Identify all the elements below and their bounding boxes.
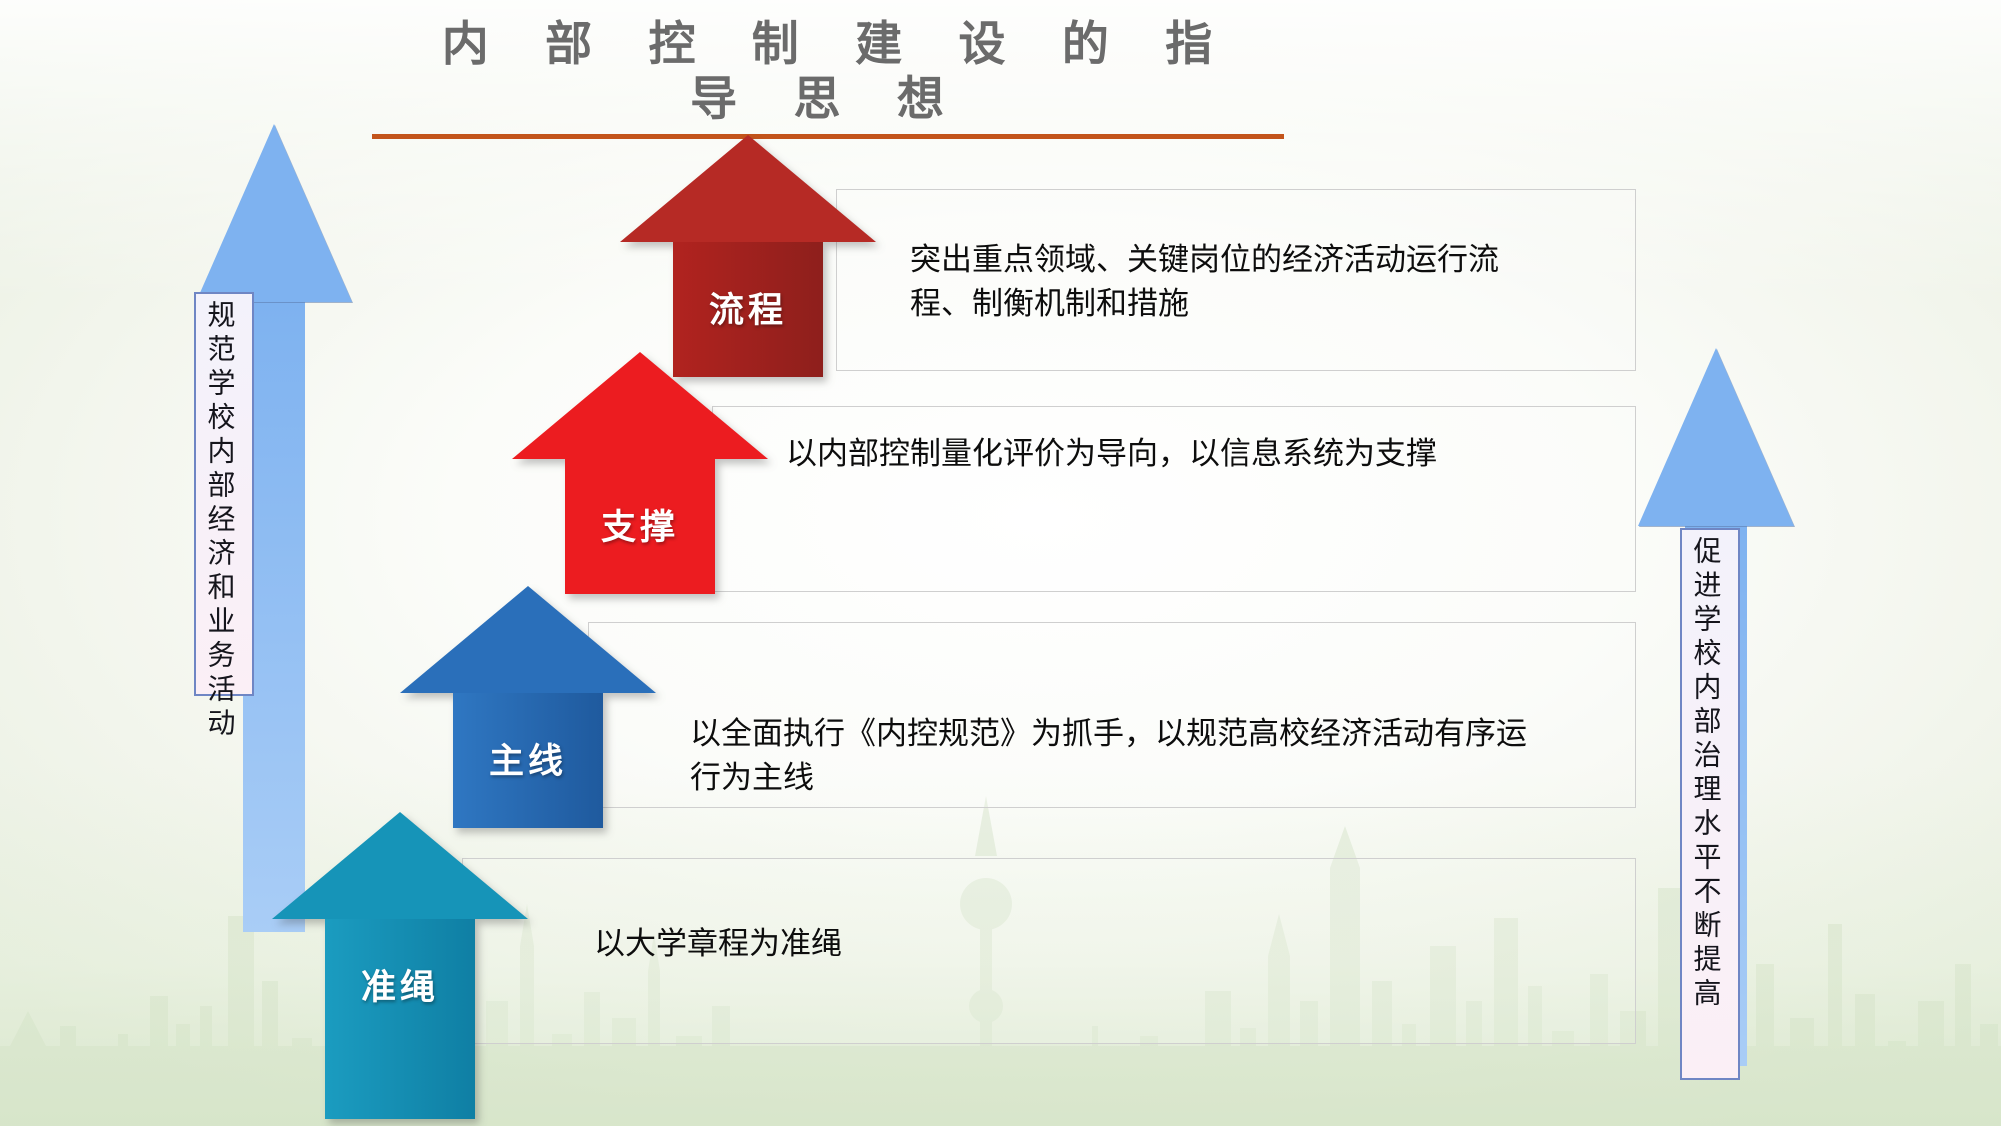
step-description-3: 以全面执行《内控规范》为抓手，以规范高校经济活动有序运行为主线 [690, 712, 1550, 800]
slide-canvas: 内 部 控 制 建 设 的 指 导 思 想 规范学校内部经济和业务活动 促进学校… [0, 0, 2001, 1126]
arrow-up-icon [196, 124, 352, 302]
triangle-up-icon [512, 352, 768, 459]
step-body: 支撑 [565, 459, 715, 594]
triangle-up-icon [620, 135, 876, 242]
arrow-up-icon [1638, 348, 1794, 526]
step-arrow-liucheng[interactable]: 流程 [620, 135, 876, 377]
triangle-up-icon [272, 812, 528, 919]
step-arrow-zhuxian[interactable]: 主线 [400, 586, 656, 828]
step-arrow-zhicheng[interactable]: 支撑 [512, 352, 768, 594]
step-label: 主线 [453, 733, 603, 784]
step-label: 流程 [673, 282, 823, 333]
page-title-block: 内 部 控 制 建 设 的 指 导 思 想 [372, 18, 1282, 139]
step-body: 主线 [453, 693, 603, 828]
step-body: 准绳 [325, 919, 475, 1119]
step-description-4: 以大学章程为准绳 [594, 922, 1194, 966]
triangle-up-icon [400, 586, 656, 693]
right-arrow-label: 促进学校内部治理水平不断提高 [1691, 536, 1720, 1076]
step-description-2: 以内部控制量化评价为导向，以信息系统为支撑 [786, 432, 1546, 476]
step-label: 支撑 [565, 499, 715, 550]
step-description-1: 突出重点领域、关键岗位的经济活动运行流程、制衡机制和措施 [910, 238, 1560, 326]
left-arrow-label: 规范学校内部经济和业务活动 [205, 300, 234, 692]
page-title: 内 部 控 制 建 设 的 指 导 思 想 [372, 18, 1282, 127]
step-arrow-zhunsheng[interactable]: 准绳 [272, 812, 528, 1119]
step-label: 准绳 [325, 959, 475, 1010]
